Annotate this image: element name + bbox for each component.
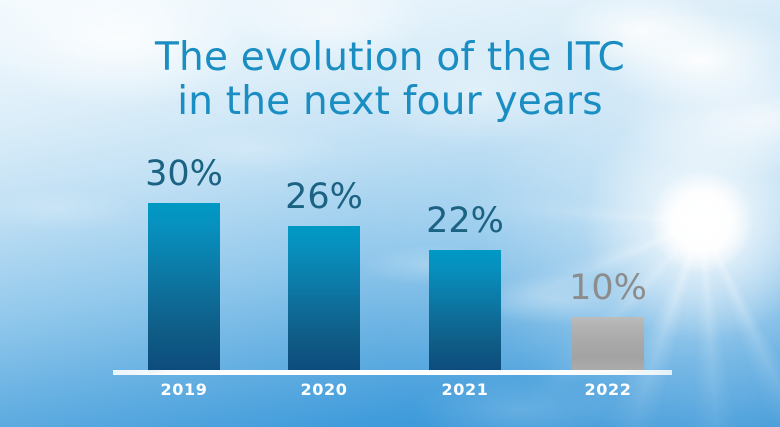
bar-chart: 30% 26% 22% 10% 2019 2020 2021 2022 [0,0,780,427]
bar-2021[interactable] [429,250,501,373]
bar-value-label-2020: 26% [244,180,404,215]
bar-2020[interactable] [288,226,360,373]
infographic-canvas: The evolution of the ITC in the next fou… [0,0,780,427]
bar-value-label-2022: 10% [528,271,688,306]
axis-tick-label-2021: 2021 [385,380,545,399]
bar-value-label-2019: 30% [104,157,264,192]
bar-value-label-2021: 22% [385,204,545,239]
axis-tick-label-2020: 2020 [244,380,404,399]
bar-2019[interactable] [148,203,220,373]
axis-tick-label-2022: 2022 [528,380,688,399]
axis-baseline [113,370,672,375]
axis-tick-label-2019: 2019 [104,380,264,399]
bar-2022[interactable] [572,317,644,373]
